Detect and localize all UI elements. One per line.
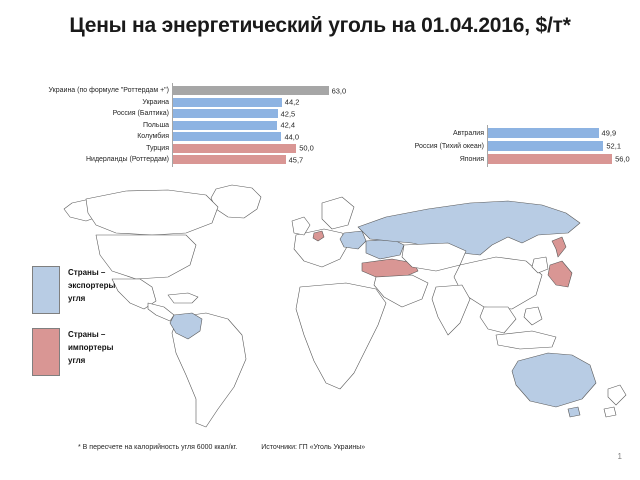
bar-value: 42,4 — [277, 121, 295, 130]
map-country-greenland — [211, 185, 261, 218]
bar[interactable] — [172, 86, 329, 95]
footnote: * В пересчете на калорийность угля 6000 … — [78, 444, 237, 451]
table-row: Автралия 49,9 — [392, 128, 630, 138]
bar-value: 52,1 — [603, 142, 621, 151]
table-row: Турция 50,0 — [14, 144, 346, 153]
legend-item-exporters: Страны – экспортеры угля — [32, 266, 130, 314]
map-country-central-asia — [402, 243, 466, 271]
table-row: Япония 56,0 — [392, 154, 630, 164]
legend-item-importers: Страны – импортеры угля — [32, 328, 130, 376]
bar-track: 49,9 — [487, 128, 630, 138]
footer: * В пересчете на калорийность угля 6000 … — [78, 444, 365, 451]
table-row: Польша 42,4 — [14, 121, 346, 130]
bar-value: 56,0 — [612, 155, 630, 164]
bar-track: 42,5 — [172, 109, 346, 118]
bar-value: 63,0 — [329, 86, 347, 95]
bar[interactable] — [172, 155, 286, 164]
bar[interactable] — [487, 141, 603, 151]
bar-label: Россия (Тихий океан) — [392, 142, 487, 151]
map-country-philippines — [524, 307, 542, 325]
axis-line — [487, 151, 488, 167]
bar-value: 44,0 — [281, 132, 299, 141]
map-country-indonesia — [496, 331, 556, 349]
map-country-caribbean — [168, 293, 198, 303]
bar-value: 50,0 — [296, 144, 314, 153]
legend-label-exporters: Страны – экспортеры угля — [68, 266, 130, 305]
table-row: Колумбия 44,0 — [14, 132, 346, 141]
bar-track: 42,4 — [172, 121, 346, 130]
bar-track: 50,0 — [172, 144, 346, 153]
map-country-scandinavia — [322, 197, 354, 229]
table-row: Россия (Тихий океан) 52,1 — [392, 141, 630, 151]
table-row: Украина (по формуле "Роттердам +") 63,0 — [14, 86, 346, 95]
bar[interactable] — [172, 144, 296, 153]
map-country-canada — [86, 190, 218, 235]
map-country-japan — [548, 237, 572, 287]
bar-track: 63,0 — [172, 86, 346, 95]
page-title: Цены на энергетический уголь на 01.04.20… — [0, 14, 640, 38]
bar-label: Колумбия — [14, 132, 172, 141]
bar-label: Нидерланды (Роттердам) — [14, 155, 172, 164]
table-row: Украина 44,2 — [14, 98, 346, 107]
world-map — [56, 183, 636, 433]
left-bar-chart: Украина (по формуле "Роттердам +") 63,0 … — [14, 86, 346, 167]
bar-label: Турция — [14, 144, 172, 153]
bar-label: Польша — [14, 121, 172, 130]
legend-swatch-importers — [32, 328, 60, 376]
bar[interactable] — [487, 154, 612, 164]
map-country-southeast-asia — [480, 307, 516, 333]
map-country-india — [432, 285, 470, 335]
bar-label: Автралия — [392, 129, 487, 138]
bar[interactable] — [172, 109, 278, 118]
bar-label: Россия (Балтика) — [14, 109, 172, 118]
legend-label-importers: Страны – импортеры угля — [68, 328, 130, 367]
sources-note: Источники: ГП «Уголь Украины» — [261, 444, 365, 451]
map-country-tasmania — [568, 407, 580, 417]
axis-line — [172, 152, 173, 167]
table-row: Россия (Балтика) 42,5 — [14, 109, 346, 118]
bar-track: 44,2 — [172, 98, 346, 107]
bar-track: 44,0 — [172, 132, 346, 141]
world-map-svg — [56, 183, 636, 433]
bar[interactable] — [172, 121, 277, 130]
bar-track: 52,1 — [487, 141, 630, 151]
map-country-poland — [340, 231, 366, 249]
table-row: Нидерланды (Роттердам) 45,7 — [14, 155, 346, 164]
map-country-central-america — [148, 303, 174, 321]
legend-swatch-exporters — [32, 266, 60, 314]
bar-label: Украина — [14, 98, 172, 107]
bar[interactable] — [172, 98, 282, 107]
right-bar-chart: Автралия 49,9 Россия (Тихий океан) 52,1 … — [392, 128, 630, 167]
page-number: 1 — [618, 452, 622, 461]
map-country-new-zealand — [604, 385, 626, 417]
bar-label: Украина (по формуле "Роттердам +") — [14, 86, 172, 95]
bar-value: 44,2 — [282, 98, 300, 107]
bar[interactable] — [172, 132, 281, 141]
bar-track: 56,0 — [487, 154, 630, 164]
bar-value: 49,9 — [599, 129, 617, 138]
bar-label: Япония — [392, 155, 487, 164]
bar-value: 42,5 — [278, 109, 296, 118]
bar-track: 45,7 — [172, 155, 346, 164]
map-country-australia — [512, 353, 596, 407]
slide-root: Цены на энергетический уголь на 01.04.20… — [0, 0, 640, 480]
map-country-africa — [296, 283, 386, 389]
map-legend: Страны – экспортеры угля Страны – импорт… — [32, 266, 130, 390]
bar[interactable] — [487, 128, 599, 138]
bar-value: 45,7 — [286, 155, 304, 164]
